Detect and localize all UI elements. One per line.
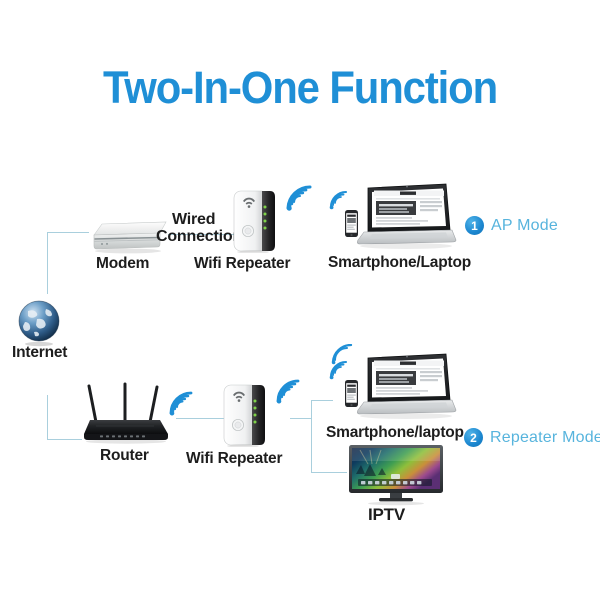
television-icon xyxy=(348,444,444,506)
connector-router-to-repeater xyxy=(176,418,224,419)
internet-label: Internet xyxy=(12,344,67,362)
client-top-label: Smartphone/Laptop xyxy=(328,254,471,272)
client-bottom-label: Smartphone/laptop xyxy=(326,424,464,442)
wifi-repeater-icon xyxy=(232,189,280,253)
ap-mode-label: AP Mode xyxy=(491,217,558,235)
infographic-page: Two-In-One Function xyxy=(0,0,600,600)
laptop-phone-icon xyxy=(328,180,458,252)
connector-split-to-iptv xyxy=(311,472,347,473)
router-icon xyxy=(80,382,172,444)
wired-connection-label-line1: Wired xyxy=(172,211,215,229)
repeater-mode-badge: 2 Repeater Mode xyxy=(464,428,600,447)
globe-icon xyxy=(15,298,65,348)
connector-internet-to-modem-vertical xyxy=(47,232,48,294)
connector-repeater-split-in xyxy=(290,418,312,419)
wifi-repeater-top-label: Wifi Repeater xyxy=(194,255,290,273)
page-title: Two-In-One Function xyxy=(21,62,579,114)
connector-internet-to-router-horizontal xyxy=(47,439,82,440)
wifi-repeater-icon xyxy=(222,383,270,447)
iptv-label: IPTV xyxy=(368,505,405,525)
ap-mode-badge: 1 AP Mode xyxy=(465,216,558,235)
connector-internet-to-modem-horizontal xyxy=(47,232,89,233)
repeater-mode-label: Repeater Mode xyxy=(490,429,600,447)
ap-mode-number: 1 xyxy=(465,216,484,235)
wifi-repeater-bottom-label: Wifi Repeater xyxy=(186,450,282,468)
router-label: Router xyxy=(100,447,149,465)
wired-connection-label-line2: Connection xyxy=(156,228,242,246)
modem-label: Modem xyxy=(96,255,149,273)
connector-repeater-split-vertical xyxy=(311,418,312,473)
wifi-signal-icon xyxy=(274,378,302,411)
wifi-signal-icon xyxy=(284,184,314,219)
connector-internet-to-router-vertical xyxy=(47,395,48,440)
connector-split-to-laptop-vertical xyxy=(311,400,312,420)
repeater-mode-number: 2 xyxy=(464,428,483,447)
wifi-signal-icon xyxy=(330,344,354,371)
